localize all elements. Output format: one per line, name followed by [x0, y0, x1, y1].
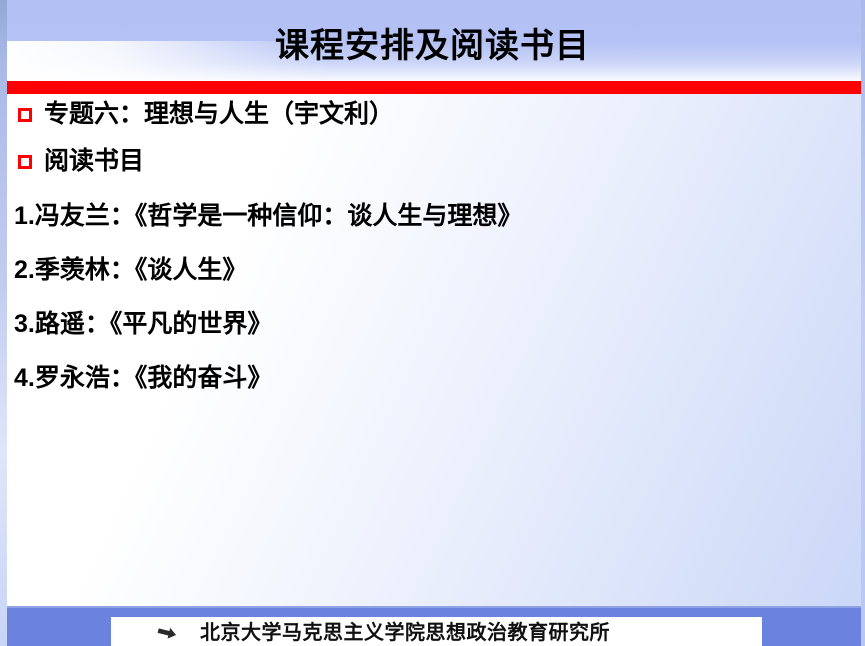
list-item-label: 季羡林：《谈人生》 [35, 256, 248, 284]
page-title: 课程安排及阅读书目 [0, 25, 865, 67]
presentation-slide: 课程安排及阅读书目 专题六：理想与人生（宇文利） 阅读书目 1.冯友兰：《哲学是… [0, 0, 865, 646]
list-item-label: 路遥：《平凡的世界》 [35, 310, 273, 338]
list-item: 2.季羡林：《谈人生》 [0, 252, 865, 288]
bullet-item: 阅读书目 [0, 143, 865, 180]
right-edge-strip [861, 0, 865, 646]
bullet-item: 专题六：理想与人生（宇文利） [0, 96, 865, 133]
arrow-bullet-icon [156, 625, 178, 641]
square-bullet-icon [18, 108, 32, 122]
left-edge-strip [0, 0, 7, 646]
list-item-label: 冯友兰：《哲学是一种信仰：谈人生与理想》 [35, 202, 523, 230]
bullet-item-label: 专题六：理想与人生（宇文利） [44, 96, 394, 133]
bullet-item-label: 阅读书目 [44, 143, 144, 180]
slide-body: 专题六：理想与人生（宇文利） 阅读书目 1.冯友兰：《哲学是一种信仰：谈人生与理… [0, 96, 865, 396]
header-red-divider [0, 81, 865, 94]
list-item-index: 3. [14, 310, 35, 338]
list-item-index: 2. [14, 256, 35, 284]
list-item-label: 罗永浩：《我的奋斗》 [35, 364, 273, 392]
list-item: 3.路遥：《平凡的世界》 [0, 306, 865, 342]
list-item-index: 4. [14, 364, 35, 392]
square-bullet-icon [18, 155, 32, 169]
list-item: 1.冯友兰：《哲学是一种信仰：谈人生与理想》 [0, 198, 865, 234]
slide-footer-band: 北京大学马克思主义学院思想政治教育研究所 [0, 606, 865, 646]
footer-caption-label: 北京大学马克思主义学院思想政治教育研究所 [200, 621, 610, 645]
list-item: 4.罗永浩：《我的奋斗》 [0, 360, 865, 396]
list-item-index: 1. [14, 202, 35, 230]
footer-caption-box: 北京大学马克思主义学院思想政治教育研究所 [111, 617, 762, 646]
